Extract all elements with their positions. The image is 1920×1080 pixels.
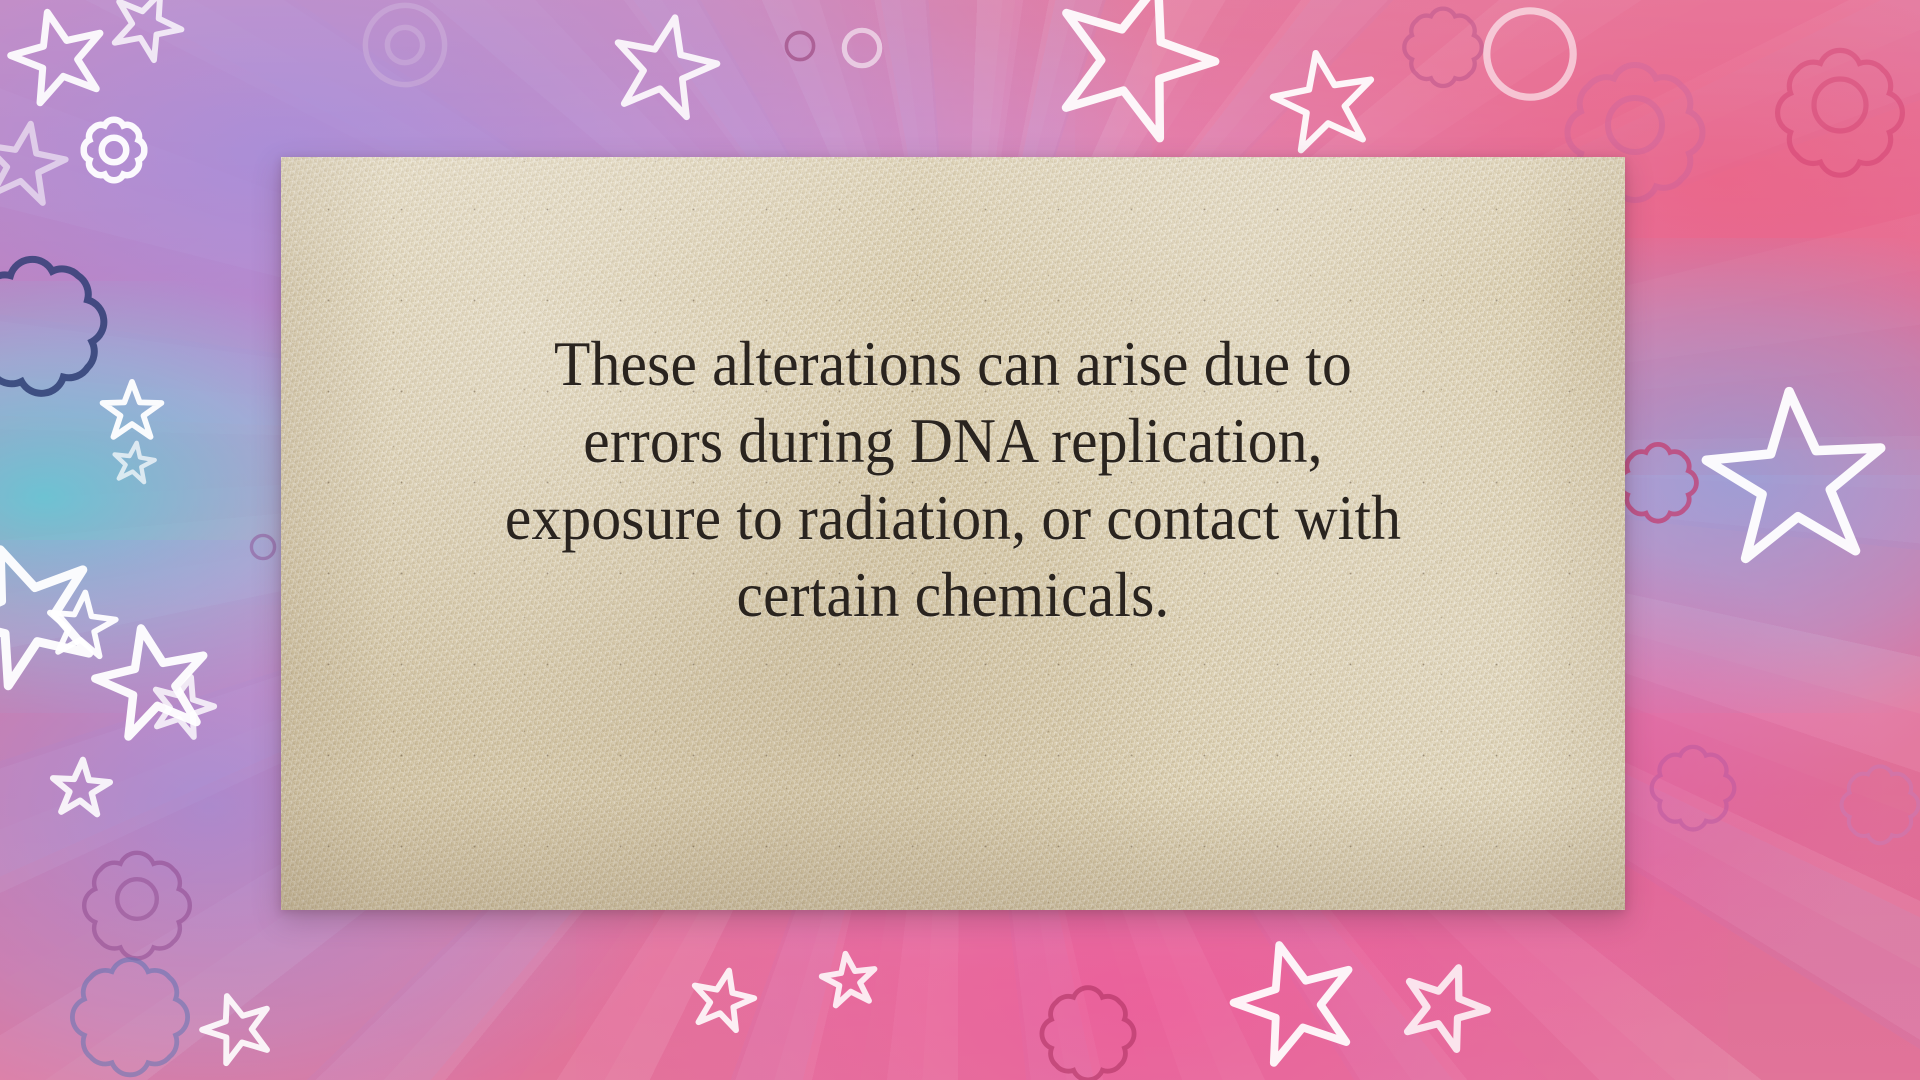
paper-card: These alterations can arise due to error… [281, 157, 1625, 910]
slide-stage: These alterations can arise due to error… [0, 0, 1920, 1080]
quote-text: These alterations can arise due to error… [328, 325, 1578, 633]
